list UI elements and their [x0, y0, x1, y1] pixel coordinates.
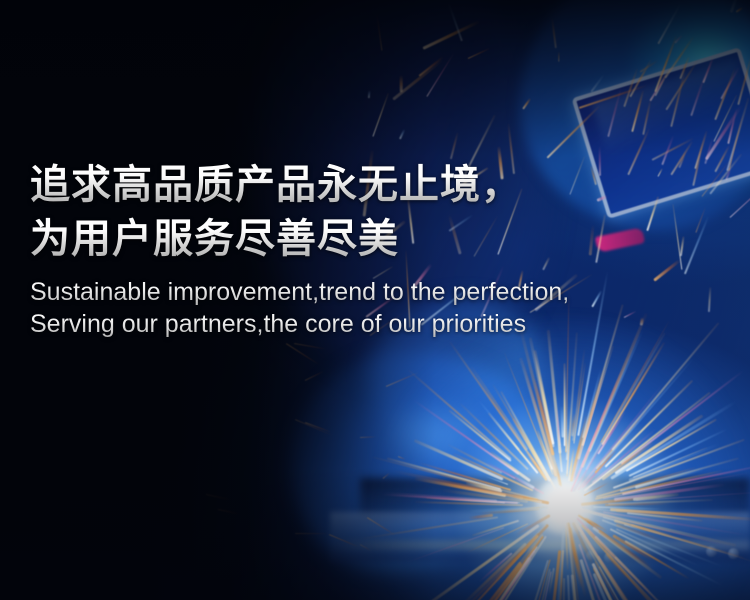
hero-banner: 追求高品质产品永无止境， 为用户服务尽善尽美 Sustainable impro…: [0, 0, 750, 600]
hero-text-block: 追求高品质产品永无止境， 为用户服务尽善尽美 Sustainable impro…: [30, 158, 720, 340]
subheading-line-2: Serving our partners,the core of our pri…: [30, 308, 720, 340]
subheading-group: Sustainable improvement,trend to the per…: [30, 276, 720, 340]
headline-line-2: 为用户服务尽善尽美: [30, 212, 720, 266]
headline-line-1: 追求高品质产品永无止境，: [30, 158, 720, 212]
subheading-line-1: Sustainable improvement,trend to the per…: [30, 276, 720, 308]
